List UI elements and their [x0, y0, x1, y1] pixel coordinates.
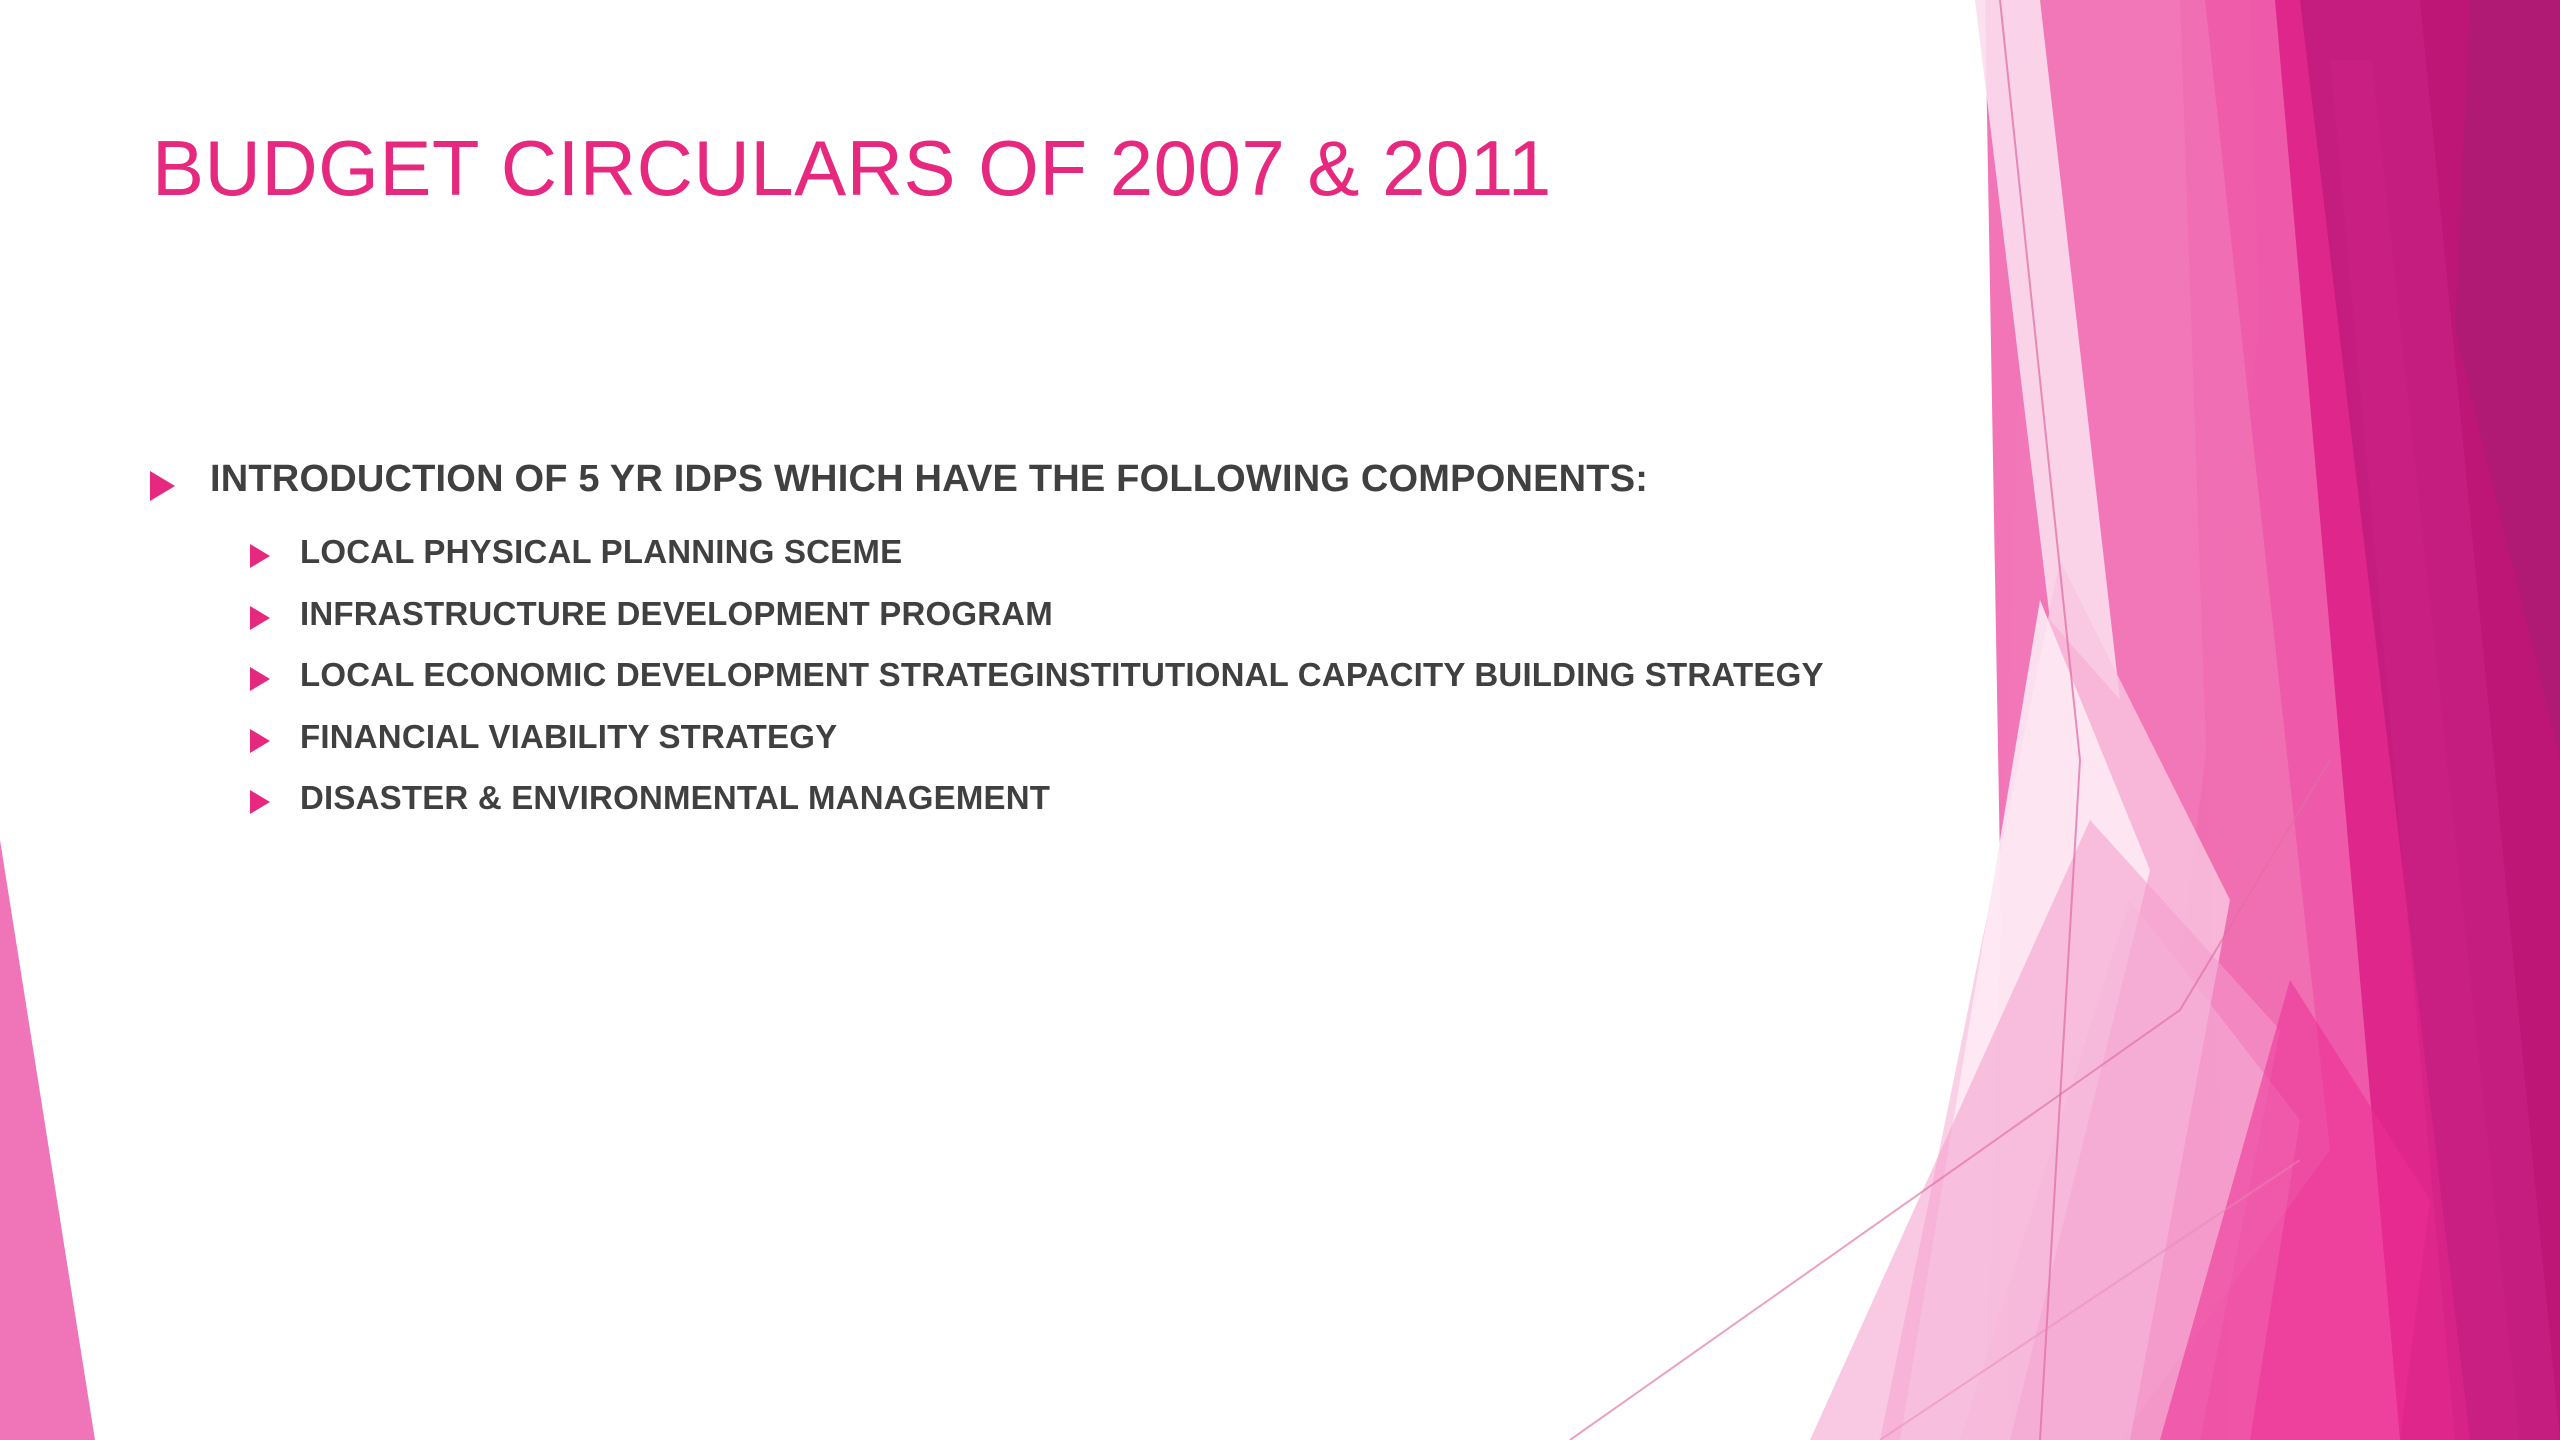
page-title: BUDGET CIRCULARS OF 2007 & 2011: [152, 128, 1792, 210]
list-item: LOCAL PHYSICAL PLANNING SCEME: [150, 530, 1910, 574]
hairline-vertical: [2000, 0, 2080, 1440]
list-item: INTRODUCTION OF 5 YR IDPS WHICH HAVE THE…: [150, 455, 1910, 506]
triangle-right-icon: [250, 786, 276, 818]
hairline-lower-long: [1880, 1160, 2300, 1440]
hairline-diagonal: [1570, 760, 2330, 1440]
list-item: DISASTER & ENVIRONMENTAL MANAGEMENT: [150, 776, 1910, 820]
triangle-right-icon: [250, 602, 276, 634]
facet-faint-overlay: [1900, 600, 2150, 1440]
triangle-right-icon: [250, 725, 276, 757]
presentation-slide: BUDGET CIRCULARS OF 2007 & 2011 INTRODUC…: [0, 0, 2560, 1440]
facet-pale-flow: [1880, 560, 2230, 1440]
facet-bright-accent-bottom: [2160, 980, 2430, 1440]
facet-deep-secondary: [2250, 0, 2560, 1440]
bullet-label: INTRODUCTION OF 5 YR IDPS WHICH HAVE THE…: [210, 455, 1648, 504]
bullet-label: INFRASTRUCTURE DEVELOPMENT PROGRAM: [300, 592, 1053, 636]
facet-edge-dark: [2455, 0, 2560, 760]
facet-pink-panel: [1985, 0, 2330, 1440]
list-item: LOCAL ECONOMIC DEVELOPMENT STRATEGINSTIT…: [150, 653, 1910, 697]
facet-pale-sliver-top: [1975, 0, 2120, 700]
bullet-label: LOCAL PHYSICAL PLANNING SCEME: [300, 530, 902, 574]
corner-wedge-bottom-left: [0, 840, 95, 1440]
facet-magenta-band: [2180, 0, 2470, 1440]
triangle-right-icon: [250, 663, 276, 695]
triangle-right-icon: [250, 540, 276, 572]
facet-lower-wash: [1960, 900, 2300, 1440]
list-item: INFRASTRUCTURE DEVELOPMENT PROGRAM: [150, 592, 1910, 636]
facet-deep-base: [2120, 0, 2560, 1440]
list-item: FINANCIAL VIABILITY STRATEGY: [150, 715, 1910, 759]
facet-lower-wedge: [1810, 820, 2280, 1440]
bullet-label: LOCAL ECONOMIC DEVELOPMENT STRATEGINSTIT…: [300, 653, 1824, 697]
triangle-right-icon: [150, 466, 184, 506]
bullet-label: FINANCIAL VIABILITY STRATEGY: [300, 715, 837, 759]
facet-hotpink-sail: [1985, 0, 2400, 1440]
content-placeholder: INTRODUCTION OF 5 YR IDPS WHICH HAVE THE…: [150, 455, 1910, 838]
bullet-label: DISASTER & ENVIRONMENTAL MANAGEMENT: [300, 776, 1050, 820]
facet-streak: [2330, 60, 2520, 1440]
title-placeholder: BUDGET CIRCULARS OF 2007 & 2011: [152, 128, 1792, 210]
